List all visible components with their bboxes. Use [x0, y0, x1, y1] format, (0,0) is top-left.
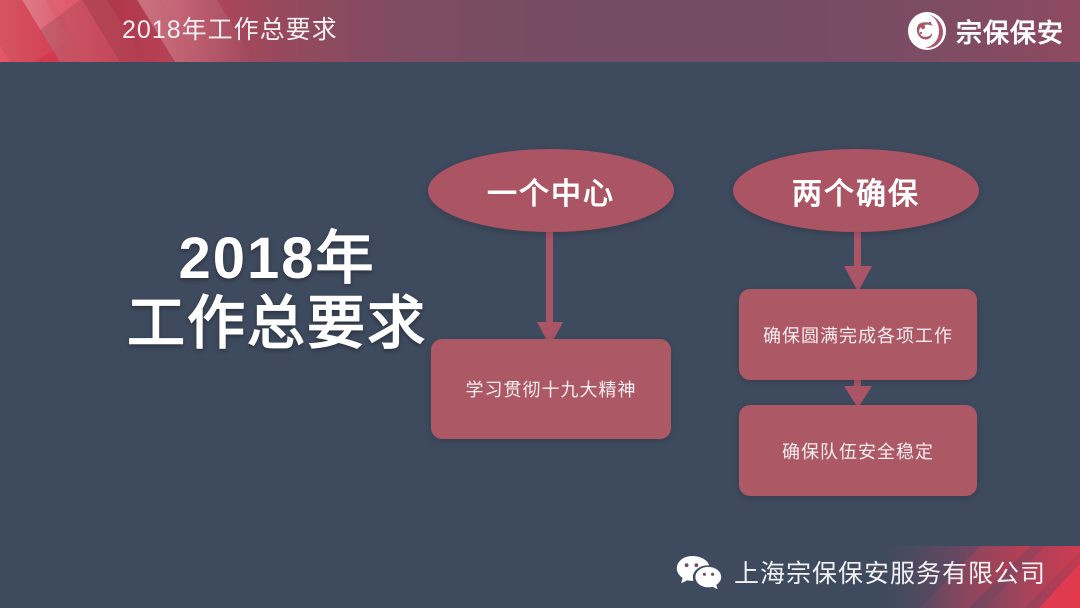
node-ellipse-two-guarantees[interactable]: 两个确保 [733, 149, 979, 232]
node-box-study-spirit[interactable]: 学习贯彻十九大精神 [431, 339, 671, 439]
page-title-line2: 工作总要求 [112, 292, 442, 357]
footer-company-name: 上海宗保保安服务有限公司 [734, 554, 1046, 590]
presentation-slide: 2018年工作总要求 宗保保安 [0, 0, 1080, 608]
footer-attribution: 上海宗保保安服务有限公司 [676, 554, 1046, 590]
header-title: 2018年工作总要求 [122, 0, 338, 62]
connector-arrow-center-to-study [525, 222, 575, 348]
wechat-icon [676, 554, 722, 590]
page-title: 2018年 工作总要求 [112, 227, 442, 357]
node-ellipse-one-center[interactable]: 一个中心 [428, 149, 674, 232]
company-logo: 宗保保安 [907, 6, 1064, 56]
slide-content-area: 2018年 工作总要求 一个中心 两个确保 学习贯彻十九大精神 确保圆满完成各项… [0, 62, 1080, 608]
page-title-line1: 2018年 [112, 227, 442, 292]
node-box-team-safety[interactable]: 确保队伍安全稳定 [739, 405, 977, 496]
slide-header-bar: 2018年工作总要求 宗保保安 [0, 0, 1080, 62]
logo-text: 宗保保安 [956, 13, 1064, 50]
connector-arrow-ensure-to-tasks [833, 222, 883, 294]
zongbao-emblem-icon [907, 11, 947, 51]
node-box-complete-tasks[interactable]: 确保圆满完成各项工作 [739, 289, 977, 380]
